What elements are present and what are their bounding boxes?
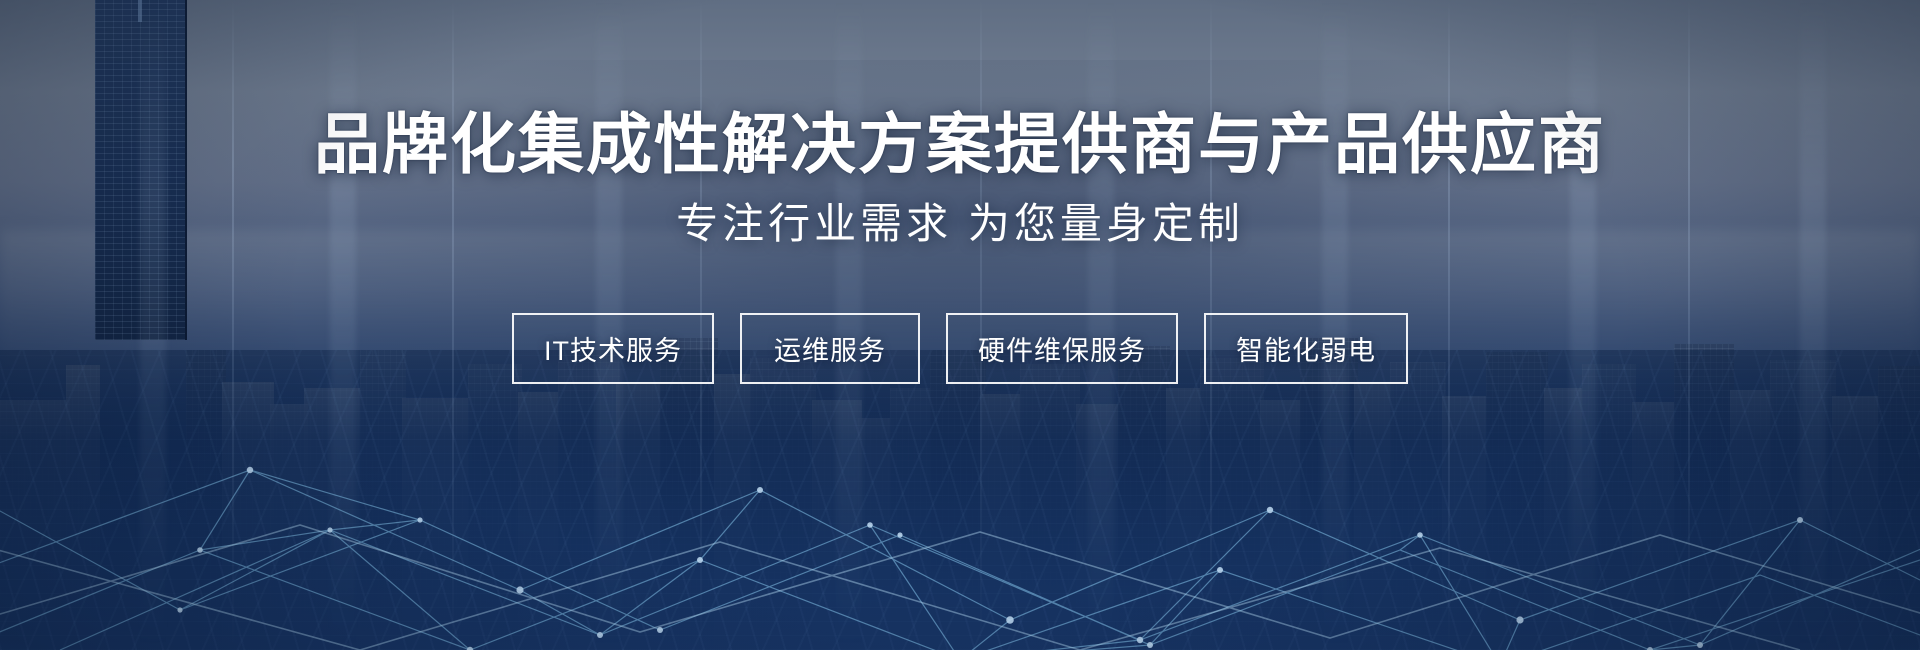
- service-tag-hardware-maintenance[interactable]: 硬件维保服务: [946, 313, 1178, 384]
- service-tag-smart-weak-current[interactable]: 智能化弱电: [1204, 313, 1408, 384]
- hero-banner: 品牌化集成性解决方案提供商与产品供应商 专注行业需求 为您量身定制 IT技术服务…: [0, 0, 1920, 650]
- banner-subheadline: 专注行业需求 为您量身定制: [676, 199, 1244, 249]
- service-tag-it-technical[interactable]: IT技术服务: [512, 313, 714, 384]
- banner-content: 品牌化集成性解决方案提供商与产品供应商 专注行业需求 为您量身定制 IT技术服务…: [0, 0, 1920, 650]
- service-tag-list: IT技术服务 运维服务 硬件维保服务 智能化弱电: [512, 313, 1408, 384]
- service-tag-operations[interactable]: 运维服务: [740, 313, 920, 384]
- banner-headline: 品牌化集成性解决方案提供商与产品供应商: [314, 108, 1606, 181]
